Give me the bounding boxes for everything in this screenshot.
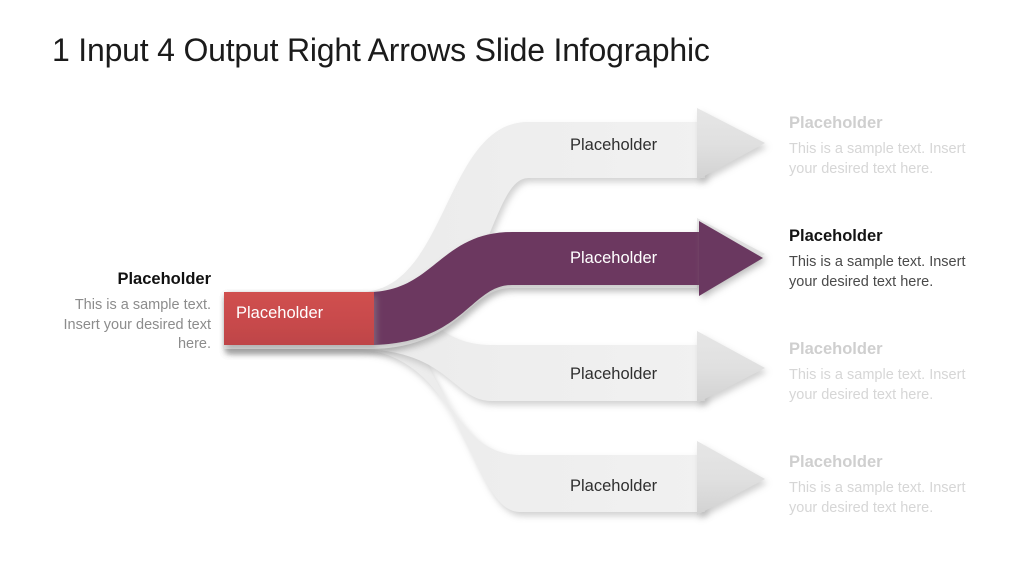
output-text-block-2: Placeholder This is a sample text. Inser…	[789, 227, 985, 292]
output-title-1: Placeholder	[789, 114, 985, 133]
input-text-block: Placeholder This is a sample text. Inser…	[48, 270, 211, 354]
output-title-4: Placeholder	[789, 453, 985, 472]
arrowhead-input-highlighted	[699, 221, 763, 296]
output-body-4: This is a sample text. Insert your desir…	[789, 479, 985, 518]
arrow-label-output-2: Placeholder	[570, 250, 657, 267]
output-body-2: This is a sample text. Insert your desir…	[789, 253, 985, 292]
output-body-1: This is a sample text. Insert your desir…	[789, 140, 985, 179]
output-body-3: This is a sample text. Insert your desir…	[789, 366, 985, 405]
arrow-label-output-1: Placeholder	[570, 137, 657, 154]
output-text-block-1: Placeholder This is a sample text. Inser…	[789, 114, 985, 179]
arrow-label-output-4: Placeholder	[570, 478, 657, 495]
input-title: Placeholder	[48, 270, 211, 289]
arrowhead-output-1	[697, 108, 765, 180]
output-title-3: Placeholder	[789, 340, 985, 359]
output-text-block-4: Placeholder This is a sample text. Inser…	[789, 453, 985, 518]
output-title-2: Placeholder	[789, 227, 985, 246]
slide-canvas: 1 Input 4 Output Right Arrows Slide Info…	[0, 0, 1024, 576]
arrowhead-output-4	[697, 441, 765, 515]
output-text-block-3: Placeholder This is a sample text. Inser…	[789, 340, 985, 405]
input-bar-label: Placeholder	[236, 305, 323, 322]
arrowhead-output-3	[697, 331, 765, 403]
arrow-label-output-3: Placeholder	[570, 366, 657, 383]
input-body: This is a sample text. Insert your desir…	[48, 296, 211, 354]
